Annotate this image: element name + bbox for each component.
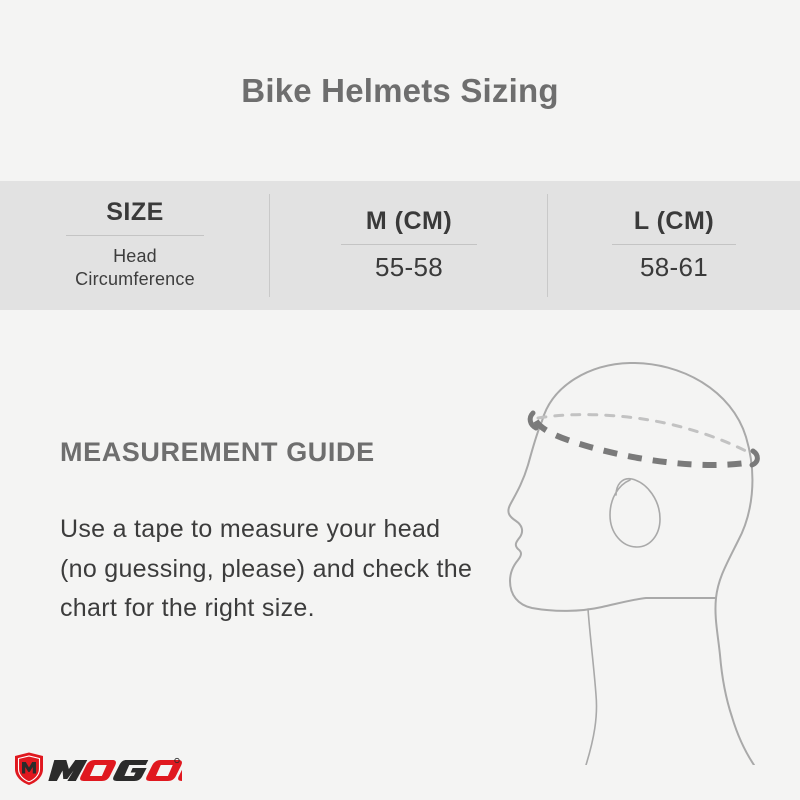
size-table-column-size: SIZE Head Circumference bbox=[0, 181, 270, 310]
size-column-subtitle: Head Circumference bbox=[75, 245, 195, 291]
m-column-value: 55-58 bbox=[375, 254, 443, 281]
band-right-end bbox=[752, 451, 757, 465]
head-profile-illustration bbox=[470, 355, 800, 765]
size-column-subtitle-line1: Head bbox=[75, 245, 195, 268]
size-table-column-l: L (CM) 58-61 bbox=[548, 181, 800, 310]
measurement-guide-body: Use a tape to measure your head (no gues… bbox=[60, 510, 480, 629]
size-column-rule bbox=[66, 235, 204, 236]
size-table: SIZE Head Circumference M (CM) 55-58 L (… bbox=[0, 181, 800, 310]
measuring-band-back-dashed bbox=[538, 415, 752, 454]
l-column-rule bbox=[612, 244, 736, 245]
skull-back-outline bbox=[542, 363, 754, 765]
mogoo-logo bbox=[12, 752, 182, 786]
m-column-rule bbox=[341, 244, 477, 245]
size-column-subtitle-line2: Circumference bbox=[75, 268, 195, 291]
mogoo-wordmark bbox=[48, 760, 182, 781]
m-column-header: M (CM) bbox=[362, 209, 456, 234]
wordmark-letter-g bbox=[113, 760, 149, 781]
band-left-end bbox=[530, 413, 536, 428]
size-column-header: SIZE bbox=[102, 200, 168, 225]
l-column-header: L (CM) bbox=[630, 209, 718, 234]
page-title: Bike Helmets Sizing bbox=[0, 72, 800, 110]
size-table-column-m: M (CM) 55-58 bbox=[270, 181, 548, 310]
sizing-chart-page: Bike Helmets Sizing SIZE Head Circumfere… bbox=[0, 0, 800, 800]
measurement-guide-heading: MEASUREMENT GUIDE bbox=[60, 437, 375, 468]
wordmark-letter-o-2 bbox=[146, 760, 182, 781]
neck-front-outline bbox=[586, 609, 597, 765]
face-profile-outline bbox=[508, 421, 716, 611]
ear-outline bbox=[610, 479, 660, 547]
measuring-band-front-dashed bbox=[536, 421, 746, 465]
l-column-value: 58-61 bbox=[640, 254, 708, 281]
